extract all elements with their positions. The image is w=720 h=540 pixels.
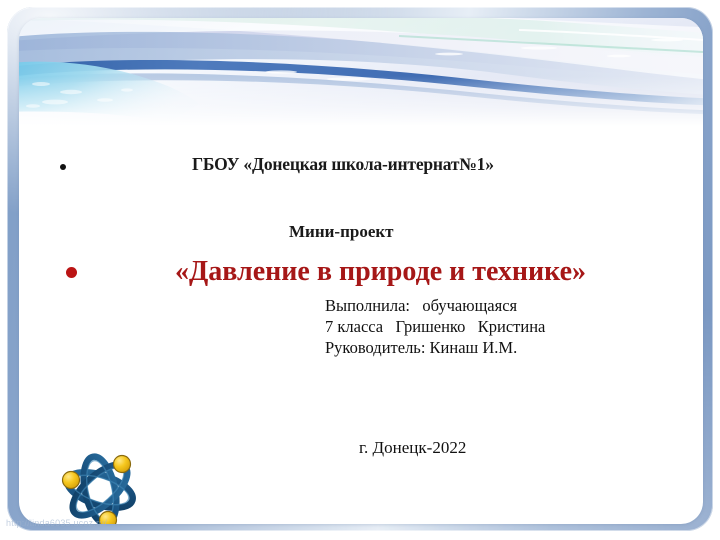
source-watermark: http://linda6035.ucoz.ru/	[6, 518, 107, 528]
city-year-text: г. Донецк-2022	[359, 438, 466, 458]
presentation-slide: ГБОУ «Донецкая школа-интернат№1» Мини-пр…	[0, 0, 720, 540]
slide-content-card: ГБОУ «Донецкая школа-интернат№1» Мини-пр…	[19, 18, 703, 524]
author-line-performed-by: Выполнила: обучающаяся	[325, 295, 545, 316]
wave-banner-decoration	[19, 18, 703, 126]
page-title: «Давление в природе и технике»	[175, 256, 586, 288]
bullet-point-title	[66, 267, 77, 278]
author-line-class-and-name: 7 класса Гришенко Кристина	[325, 316, 545, 337]
project-kind-text: Мини-проект	[289, 222, 394, 242]
author-line-supervisor: Руководитель: Кинаш И.М.	[325, 337, 545, 358]
atom-icon	[52, 442, 148, 524]
bullet-point-school	[60, 164, 66, 170]
school-name-text: ГБОУ «Донецкая школа-интернат№1»	[192, 154, 494, 175]
author-block: Выполнила: обучающаяся 7 класса Гришенко…	[325, 295, 545, 358]
